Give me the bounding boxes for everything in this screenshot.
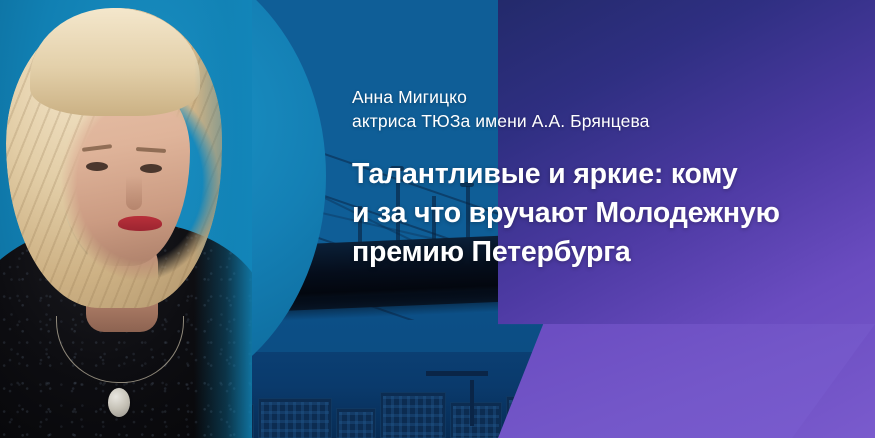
portrait-edge-fade: [194, 0, 252, 438]
portrait-photo: [0, 0, 252, 438]
city-building: [380, 392, 446, 438]
headline-line-2: и за что вручают Молодежную: [352, 194, 862, 233]
headline-line-1: Талантливые и яркие: кому: [352, 155, 862, 194]
city-building: [258, 398, 332, 438]
city-building: [450, 402, 502, 438]
necklace-pendant: [108, 388, 130, 417]
headline-line-3: премию Петербурга: [352, 233, 862, 272]
speaker-role: актриса ТЮЗа имени А.А. Брянцева: [352, 110, 862, 134]
promo-headline[interactable]: Талантливые и яркие: кому и за что вруча…: [352, 155, 862, 272]
promo-text-block: Анна Мигицко актриса ТЮЗа имени А.А. Бря…: [352, 86, 862, 272]
speaker-credit: Анна Мигицко актриса ТЮЗа имени А.А. Бря…: [352, 86, 862, 133]
construction-crane-jib: [426, 371, 488, 376]
article-promo-banner[interactable]: Анна Мигицко актриса ТЮЗа имени А.А. Бря…: [0, 0, 875, 438]
construction-crane-mast: [470, 380, 474, 426]
city-building: [336, 408, 376, 438]
speaker-name: Анна Мигицко: [352, 86, 862, 110]
